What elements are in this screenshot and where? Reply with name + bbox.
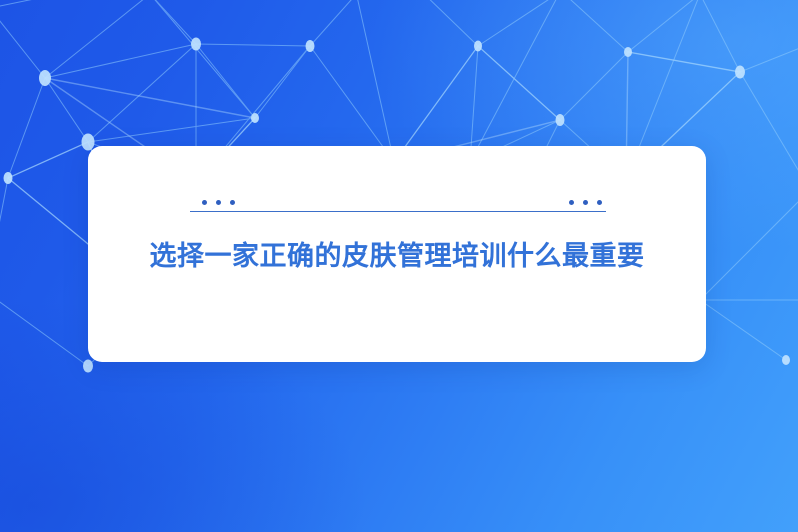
dot-icon <box>597 200 602 205</box>
divider-dots-right <box>569 200 602 205</box>
dot-icon <box>569 200 574 205</box>
dot-icon <box>230 200 235 205</box>
decorative-divider <box>190 190 606 212</box>
dot-icon <box>216 200 221 205</box>
divider-dots-left <box>202 200 235 205</box>
content-card: 选择一家正确的皮肤管理培训什么最重要 <box>88 146 706 362</box>
dot-icon <box>583 200 588 205</box>
dot-icon <box>202 200 207 205</box>
page-title: 选择一家正确的皮肤管理培训什么最重要 <box>88 234 706 273</box>
divider-line <box>190 211 606 212</box>
banner-stage: 选择一家正确的皮肤管理培训什么最重要 <box>0 0 798 532</box>
